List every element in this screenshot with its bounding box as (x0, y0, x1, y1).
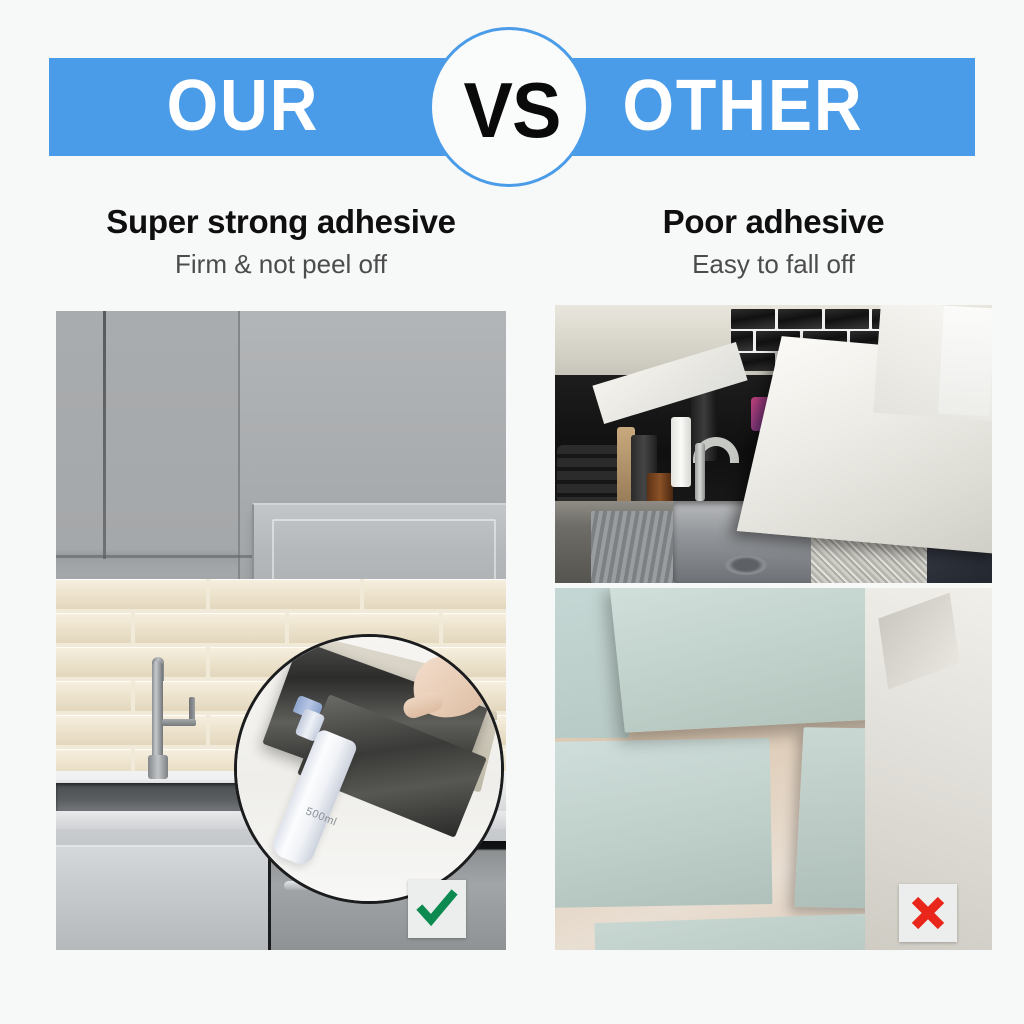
fail-badge (899, 884, 957, 942)
rt-paper-note (938, 306, 992, 417)
left-column-heading: Super strong adhesive Firm & not peel of… (56, 202, 506, 280)
kitchen-sink-basin (56, 783, 246, 811)
rb-tile-curling-large (609, 588, 893, 733)
faucet-base (148, 755, 168, 779)
right-column-heading: Poor adhesive Easy to fall off (555, 202, 992, 280)
left-column-subtitle: Firm & not peel off (56, 248, 506, 280)
rb-tile-bottom-left (555, 738, 772, 908)
black-backsplash-tile (825, 309, 869, 329)
backsplash-tile (56, 613, 131, 643)
rt-white-pump-bottle (671, 417, 691, 487)
rt-sink-drain (725, 555, 767, 575)
check-icon (416, 888, 458, 930)
right-column-title: Poor adhesive (555, 202, 992, 242)
backsplash-tile (56, 647, 206, 677)
left-column-title: Super strong adhesive (56, 202, 506, 242)
right-column-subtitle: Easy to fall off (555, 248, 992, 280)
backsplash-tile (210, 579, 360, 609)
banner-our-label: OUR (167, 58, 320, 156)
adhesive-demo-inset: 500ml (234, 634, 504, 904)
pass-badge (408, 880, 466, 938)
vs-circle: VS (429, 27, 589, 187)
black-backsplash-tile (731, 309, 775, 329)
backsplash-tile (56, 681, 131, 711)
left-photo-clean-kitchen: 500ml (56, 311, 506, 950)
rt-sink-mat (591, 511, 685, 583)
comparison-banner: OUR OTHER VS (0, 0, 1024, 190)
black-backsplash-tile (778, 309, 822, 329)
right-photo-peeling-sink (555, 305, 992, 583)
backsplash-tile (56, 579, 206, 609)
cross-icon (908, 893, 948, 933)
rt-faucet-body (695, 443, 705, 501)
vs-label: VS (436, 30, 588, 190)
faucet-lever (162, 719, 196, 726)
cabinet-seam-vertical (103, 311, 106, 559)
banner-other-label: OTHER (622, 58, 863, 156)
backsplash-tile (364, 579, 506, 609)
